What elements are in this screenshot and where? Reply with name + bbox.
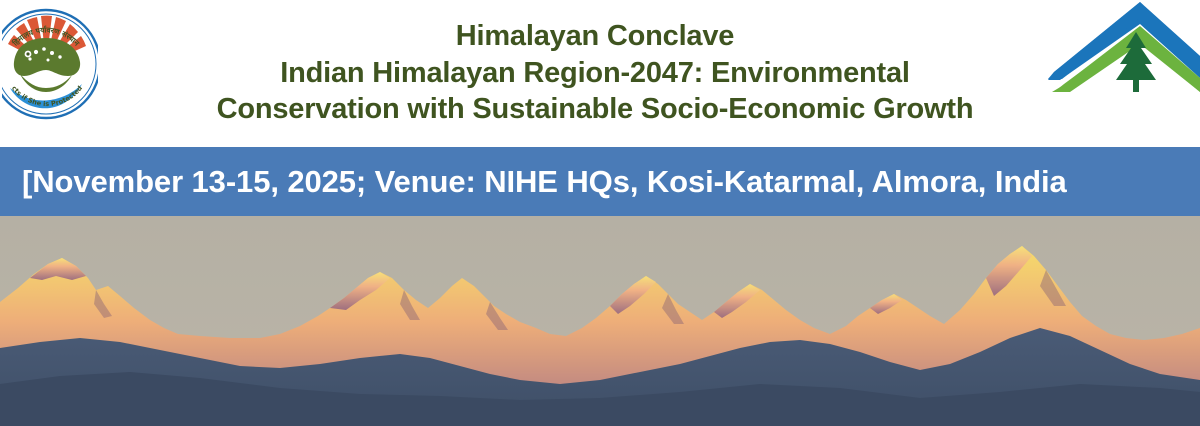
conference-banner: हिमालय पर्यावरण संस्थान cts if She is Pr… [0,0,1200,426]
title-line-1: Himalayan Conclave [90,18,1100,55]
nihe-emblem-logo: हिमालय पर्यावरण संस्थान cts if She is Pr… [2,2,98,136]
title-line-3: Conservation with Sustainable Socio-Econ… [90,91,1100,128]
conference-title-block: Himalayan Conclave Indian Himalayan Regi… [90,18,1100,128]
venue-date-bar: [November 13-15, 2025; Venue: NIHE HQs, … [0,147,1200,216]
himalaya-photo [0,216,1200,426]
title-line-2: Indian Himalayan Region-2047: Environmen… [90,55,1100,92]
mountain-chevron-pine-logo [1048,0,1200,92]
venue-date-text: [November 13-15, 2025; Venue: NIHE HQs, … [0,164,1067,200]
